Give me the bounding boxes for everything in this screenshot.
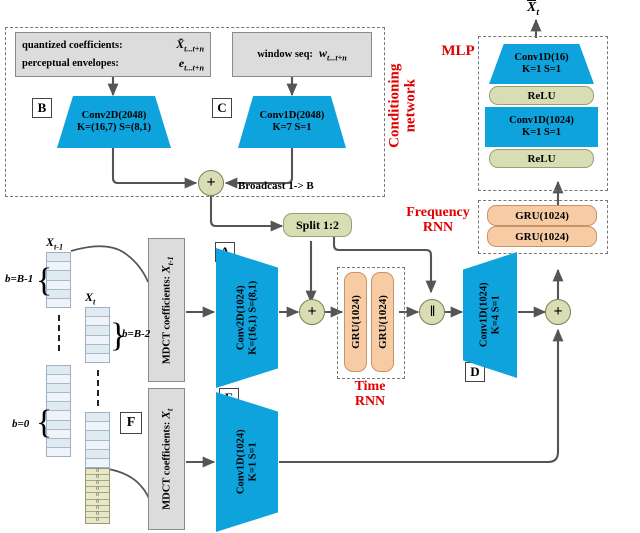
tag-c-text: C (217, 100, 226, 116)
mlp-relu-bottom: ReLU (489, 149, 594, 168)
mlp-relu-top-label: ReLU (527, 90, 555, 102)
freq-rnn-line2: RNN (423, 220, 453, 235)
xt-stack-label: Xt (85, 290, 95, 306)
brace-bottom: { (36, 404, 52, 442)
add-glyph: + (206, 174, 215, 192)
conditioning-add-operator: + (198, 170, 224, 196)
frequency-gru-top[interactable]: GRU(1024) (487, 205, 597, 226)
xt-stack-bottom (85, 412, 110, 468)
tag-b: B (32, 98, 52, 118)
tag-f-text: F (127, 415, 136, 431)
quantized-coefficients-symbol: X̃t...t+n (176, 37, 204, 53)
tag-b-text: B (38, 100, 47, 116)
conv1d-2048-block[interactable]: Conv1D(2048) K=7 S=1 (238, 96, 346, 148)
dots-left-upper (58, 315, 60, 351)
quantized-inputs-box: quantized coefficients: X̃t...t+n percep… (15, 32, 211, 77)
time-gru-right-label: GRU(1024) (377, 295, 389, 349)
mlp-conv1d-16-block[interactable]: Conv1D(16) K=1 S=1 (489, 44, 594, 84)
band-top-label: b=B-1 (5, 273, 33, 285)
mlp-conv1d-16-line1: Conv1D(16) (514, 52, 568, 64)
conv1d-1024-e-line2: K=1 S=1 (247, 430, 259, 495)
conv2d-2048-line2: K=(16,7) S=(8,1) (77, 122, 151, 134)
conditioning-network-label: Conditioning network (387, 51, 419, 161)
mlp-conv1d-1024-line2: K=1 S=1 (509, 127, 574, 139)
quantized-coefficients-label: quantized coefficients: (22, 40, 123, 51)
conv1d-2048-line1: Conv1D(2048) (260, 110, 325, 122)
dots-right-upper (97, 370, 99, 406)
add-glyph-3: + (553, 303, 562, 321)
mdct-curr-label: MDCT coefficients: (161, 421, 172, 509)
concat-glyph: ‖ (430, 304, 434, 321)
mdct-prev-label: MDCT coefficients: (161, 276, 172, 364)
conditioning-label-line2: network (402, 79, 418, 132)
xt-minus-1-stack-label: Xt-1 (46, 235, 63, 251)
window-seq-box: window seq: wt...t+n (232, 32, 372, 77)
conv1d-1024-d-line1: Conv1D(1024) (478, 283, 490, 348)
split-label: Split 1:2 (296, 218, 339, 233)
tag-f: F (120, 412, 142, 434)
conv2d-1024-line2: K=(16,1) S=(8,1) (247, 281, 259, 355)
split-operator[interactable]: Split 1:2 (283, 213, 352, 237)
conv2d-2048-block[interactable]: Conv2D(2048) K=(16,7) S=(8,1) (57, 96, 171, 148)
frequency-gru-bottom-label: GRU(1024) (515, 231, 569, 243)
brace-top: { (36, 262, 52, 300)
tag-c: C (212, 98, 232, 118)
zero-cell: 0 (86, 518, 109, 523)
conv1d-1024-d-line2: K=4 S=1 (490, 283, 502, 348)
mlp-relu-top: ReLU (489, 86, 594, 105)
conv2d-1024-block[interactable]: Conv2D(1024) K=(16,1) S=(8,1) (216, 248, 278, 388)
conv1d-1024-e-line1: Conv1D(1024) (235, 430, 247, 495)
concat-operator: ‖ (419, 299, 445, 325)
mlp-conv1d-1024-line1: Conv1D(1024) (509, 115, 574, 127)
mlp-label: MLP (438, 44, 478, 60)
window-seq-symbol: wt...t+n (319, 46, 347, 62)
conditioning-label-line1: Conditioning (386, 64, 402, 148)
time-rnn-line2: RNN (355, 394, 385, 409)
output-symbol: Xt (527, 0, 539, 18)
broadcast-label: Broadcast 1-> B (238, 180, 314, 192)
perceptual-envelopes-symbol: et...t+n (179, 56, 204, 72)
mdct-coefficients-prev-box: MDCT coefficients: Xt-1 (148, 238, 185, 382)
time-gru-left[interactable]: GRU(1024) (344, 272, 367, 372)
final-add-operator: + (545, 299, 571, 325)
diagram-canvas: Conditioning network quantized coefficie… (0, 0, 640, 533)
time-rnn-add-operator: + (299, 299, 325, 325)
mlp-conv1d-1024-block[interactable]: Conv1D(1024) K=1 S=1 (485, 107, 598, 147)
mlp-relu-bottom-label: ReLU (527, 153, 555, 165)
band-mid-label: b=B-2 (122, 328, 150, 340)
frequency-gru-top-label: GRU(1024) (515, 210, 569, 222)
xt-stack-top (85, 307, 110, 363)
zero-padding-stack: 0 0 0 0 0 0 0 0 0 (85, 468, 110, 524)
frequency-gru-bottom[interactable]: GRU(1024) (487, 226, 597, 247)
conv1d-1024-d-block[interactable]: Conv1D(1024) K=4 S=1 (463, 252, 517, 378)
time-gru-right[interactable]: GRU(1024) (371, 272, 394, 372)
conv1d-1024-e-block[interactable]: Conv1D(1024) K=1 S=1 (216, 392, 278, 532)
mdct-coefficients-curr-box: MDCT coefficients: Xt (148, 388, 185, 530)
perceptual-envelopes-label: perceptual envelopes: (22, 58, 119, 69)
tag-d-text: D (470, 364, 479, 380)
mdct-curr-symbol: Xt (158, 408, 172, 418)
conv1d-2048-line2: K=7 S=1 (260, 122, 325, 134)
add-glyph-2: + (307, 303, 316, 321)
conv2d-1024-line1: Conv2D(1024) (235, 281, 247, 355)
freq-rnn-line1: Frequency (406, 205, 470, 220)
band-bottom-label: b=0 (12, 418, 29, 430)
mlp-conv1d-16-line2: K=1 S=1 (514, 64, 568, 76)
window-seq-label: window seq: (257, 49, 313, 60)
time-rnn-label: Time RNN (330, 380, 410, 409)
time-rnn-line1: Time (355, 379, 386, 394)
conv2d-2048-line1: Conv2D(2048) (77, 110, 151, 122)
time-gru-left-label: GRU(1024) (350, 295, 362, 349)
mdct-prev-symbol: Xt-1 (158, 256, 172, 273)
frequency-rnn-label: Frequency RNN (396, 206, 480, 235)
